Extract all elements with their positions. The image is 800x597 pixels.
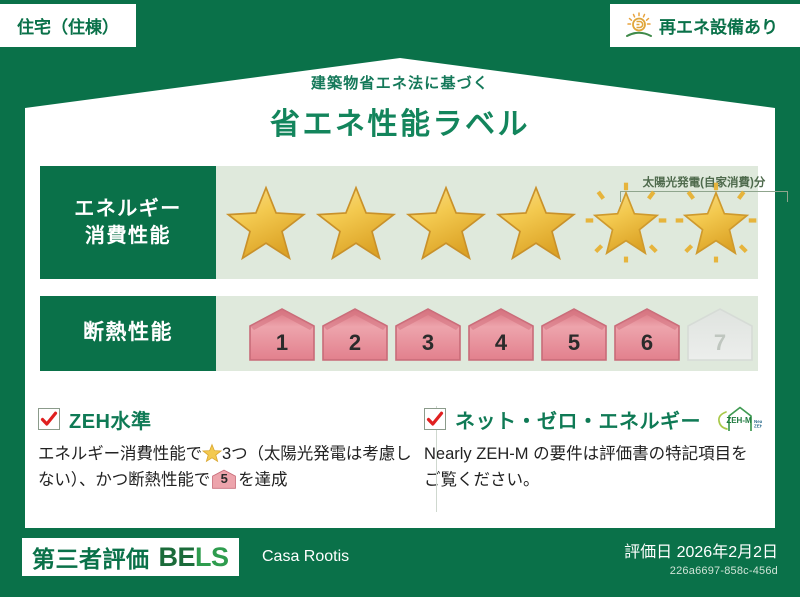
star-6-solar [672, 179, 760, 267]
bels-logo: BELS [159, 542, 229, 573]
energy-label-line1: エネルギー [74, 196, 182, 223]
zeh-standard-section: ZEH水準 エネルギー消費性能で3つ（太陽光発電は考慮しない）、かつ断熱性能で5… [38, 404, 414, 516]
svg-text:ZEH-M: ZEH-M [726, 416, 752, 425]
sun-renewable-icon [624, 12, 654, 40]
building-type-label: 住宅（住棟） [17, 13, 119, 38]
energy-stars-area: 太陽光発電(自家消費)分 [216, 166, 758, 279]
insulation-grade-scale: 1 2 3 [216, 296, 758, 371]
zeh-standard-header: ZEH水準 [38, 404, 414, 434]
bels-logo-part1: BE [159, 542, 196, 572]
insulation-label-block: 断熱性能 [40, 296, 216, 371]
bels-logo-part2: LS [195, 542, 229, 572]
insulation-badge-1: 1 [246, 306, 318, 362]
title-subtitle: 建築物省エネ法に基づく [0, 72, 800, 93]
zeh-desc-part1: エネルギー消費性能で [38, 445, 202, 463]
title-block: 建築物省エネ法に基づく 省エネ性能ラベル [0, 72, 800, 143]
star-3 [402, 179, 490, 267]
net-zero-checkbox[interactable] [424, 408, 446, 430]
project-name: Casa Rootis [262, 548, 349, 566]
inline-insulation-badge: 5 [210, 469, 238, 489]
energy-label-line2: 消費性能 [85, 223, 171, 250]
insulation-badge-3-number: 3 [392, 330, 464, 356]
inline-star-icon [202, 443, 222, 463]
energy-performance-label: 住宅（住棟） 再エネ設備あり 建築物省エネ法に基づく [0, 0, 800, 597]
evaluation-info: 評価日 2026年2月2日 226a6697-858c-456d [624, 538, 778, 577]
zeh-standard-description: エネルギー消費性能で3つ（太陽光発電は考慮しない）、かつ断熱性能で5を達成 [38, 441, 414, 493]
insulation-badge-7: 7 [684, 306, 756, 362]
zeh-desc-part3: を達成 [238, 471, 287, 489]
star-1 [222, 179, 310, 267]
insulation-badges-area: 1 2 3 [216, 296, 758, 371]
insulation-badge-3: 3 [392, 306, 464, 362]
insulation-badge-1-number: 1 [246, 330, 318, 356]
footer: 第三者評価 BELS Casa Rootis 評価日 2026年2月2日 226… [0, 528, 800, 597]
insulation-badge-6: 6 [611, 306, 683, 362]
star-4 [492, 179, 580, 267]
insulation-badge-5: 5 [538, 306, 610, 362]
certification-checks: ZEH水準 エネルギー消費性能で3つ（太陽光発電は考慮しない）、かつ断熱性能で5… [38, 404, 762, 516]
building-type-badge: 住宅（住棟） [0, 4, 136, 47]
title-main: 省エネ性能ラベル [0, 99, 800, 143]
insulation-badge-7-number: 7 [684, 330, 756, 356]
renewable-energy-badge: 再エネ設備あり [610, 4, 800, 47]
zeh-standard-checkbox[interactable] [38, 408, 60, 430]
star-5-solar [582, 179, 670, 267]
bels-certification-box: 第三者評価 BELS [22, 538, 239, 576]
svg-text:ZEH-M: ZEH-M [754, 424, 762, 429]
insulation-badge-6-number: 6 [611, 330, 683, 356]
net-zero-header: ネット・ゼロ・エネルギー ZEH-M Nearly ZEH-M [424, 404, 762, 434]
third-party-eval-label: 第三者評価 [32, 540, 150, 574]
insulation-badge-2: 2 [319, 306, 391, 362]
zeh-m-logo: ZEH-M Nearly ZEH-M [714, 404, 762, 434]
energy-performance-label-block: エネルギー 消費性能 [40, 166, 216, 279]
insulation-badge-4-number: 4 [465, 330, 537, 356]
insulation-badge-2-number: 2 [319, 330, 391, 356]
star-2 [312, 179, 400, 267]
zeh-standard-title: ZEH水準 [69, 405, 152, 434]
insulation-badge-4: 4 [465, 306, 537, 362]
renewable-energy-label: 再エネ設備あり [659, 13, 778, 38]
net-zero-description: Nearly ZEH-M の要件は評価書の特記項目をご覧ください。 [424, 441, 762, 493]
insulation-badge-5-number: 5 [538, 330, 610, 356]
evaluation-date: 評価日 2026年2月2日 [624, 538, 778, 562]
evaluation-id: 226a6697-858c-456d [624, 565, 778, 577]
inline-insulation-badge-number: 5 [210, 469, 238, 490]
net-zero-title: ネット・ゼロ・エネルギー [455, 405, 701, 434]
star-rating [216, 166, 758, 279]
check-icon [426, 410, 444, 428]
net-zero-energy-section: ネット・ゼロ・エネルギー ZEH-M Nearly ZEH-M Nearly Z… [414, 404, 762, 516]
energy-performance-row: エネルギー 消費性能 太陽光発電(自家消費)分 [40, 166, 758, 279]
check-icon [40, 410, 58, 428]
insulation-performance-row: 断熱性能 [40, 296, 758, 371]
